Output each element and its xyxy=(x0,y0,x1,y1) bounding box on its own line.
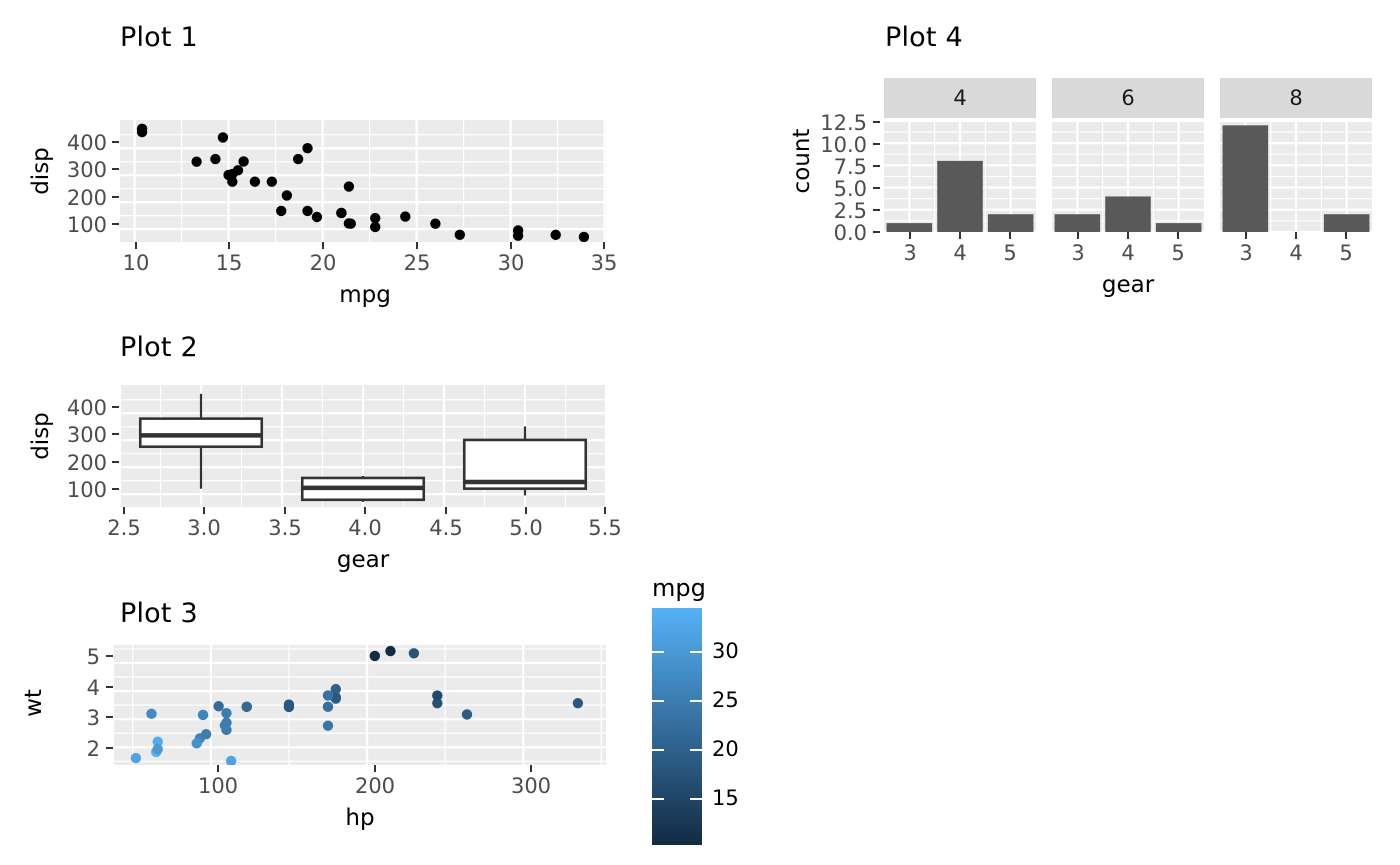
plot4-xtick-mark xyxy=(1245,232,1247,239)
plot4-xtick-mark xyxy=(1009,232,1011,239)
plot2-xtick-4.0: 4.0 xyxy=(335,516,395,540)
plot2-y-axis-title: disp xyxy=(28,391,54,481)
plot1-x-axis-title: mpg xyxy=(300,282,430,308)
plot4-xtick-mark xyxy=(1345,232,1347,239)
plot4-ytick-10.0: 10.0 xyxy=(795,133,867,157)
facet-strip-6: 6 xyxy=(1052,78,1204,118)
plot4-ytick-mark xyxy=(873,231,880,233)
plot4-ytick-mark xyxy=(873,143,880,145)
plot1-xtick-mark xyxy=(603,242,605,249)
legend-title: mpg xyxy=(652,574,706,602)
plot1-xtick-25: 25 xyxy=(387,251,447,275)
plot3-ytick-3: 3 xyxy=(62,706,100,730)
plot3-x-axis-title: hp xyxy=(300,805,420,831)
plot4-ytick-0.0: 0.0 xyxy=(795,221,867,245)
plot2-ytick-mark xyxy=(112,488,119,490)
plot4-f0-xtick-5: 5 xyxy=(980,241,1040,265)
plot3-ytick-mark xyxy=(106,747,113,749)
facet-strip-8: 8 xyxy=(1220,78,1372,118)
plot4-xtick-mark xyxy=(959,232,961,239)
plot3-title: Plot 3 xyxy=(120,598,198,629)
plot4-xtick-mark xyxy=(1177,232,1179,239)
plot1-xtick-10: 10 xyxy=(106,251,166,275)
plot4-xtick-mark xyxy=(909,232,911,239)
plot1-ytick-400: 400 xyxy=(55,131,107,155)
plot3-ytick-mark xyxy=(106,686,113,688)
plot2-ytick-mark xyxy=(112,433,119,435)
plot1-xtick-mark xyxy=(228,242,230,249)
plot1-xtick-20: 20 xyxy=(293,251,353,275)
plot2-xtick-5.5: 5.5 xyxy=(575,516,635,540)
plot2-xtick-mark xyxy=(123,507,125,514)
plot2-ytick-mark xyxy=(112,461,119,463)
plot1-xtick-mark xyxy=(322,242,324,249)
plot2-xtick-mark xyxy=(445,507,447,514)
plot2-xtick-mark xyxy=(284,507,286,514)
plot2-ytick-300: 300 xyxy=(55,423,107,447)
legend-tick-mark xyxy=(652,749,664,751)
plot4-xtick-mark xyxy=(1127,232,1129,239)
plot2-xtick-3.0: 3.0 xyxy=(174,516,234,540)
plot3-y-axis-title: wt xyxy=(21,663,47,743)
plot1-ytick-mark xyxy=(112,196,119,198)
plot2-xtick-2.5: 2.5 xyxy=(94,516,154,540)
plot1-ytick-100: 100 xyxy=(55,213,107,237)
plot2-xtick-mark xyxy=(203,507,205,514)
legend-tick-mark xyxy=(690,651,702,653)
plot2-xtick-4.5: 4.5 xyxy=(416,516,476,540)
plot1-xtick-mark xyxy=(510,242,512,249)
plot1-panel xyxy=(120,120,606,242)
plot2-ytick-mark xyxy=(112,406,119,408)
plot4-ytick-12.5: 12.5 xyxy=(795,111,867,135)
legend-label-20: 20 xyxy=(712,737,739,761)
plot2-xtick-mark xyxy=(604,507,606,514)
plot4-xtick-mark xyxy=(1295,232,1297,239)
plot3-xtick-200: 200 xyxy=(340,774,410,798)
plot1-xtick-mark xyxy=(416,242,418,249)
plot3-xtick-mark xyxy=(217,765,219,772)
plot4-ytick-mark xyxy=(873,187,880,189)
plot4-panel-cyl4 xyxy=(884,120,1036,232)
facet-strip-label: 6 xyxy=(1121,86,1134,110)
legend-tick-mark xyxy=(652,651,664,653)
plot1-y-axis-title: disp xyxy=(28,126,54,216)
plot3-ytick-5: 5 xyxy=(62,645,100,669)
plot1-ytick-mark xyxy=(112,141,119,143)
plot2-x-axis-title: gear xyxy=(298,547,428,573)
plot2-xtick-mark xyxy=(525,507,527,514)
plot3-ytick-mark xyxy=(106,716,113,718)
plot3-ytick-4: 4 xyxy=(62,676,100,700)
plot2-ytick-200: 200 xyxy=(55,451,107,475)
plot1-title: Plot 1 xyxy=(120,22,198,53)
plot2-xtick-mark xyxy=(364,507,366,514)
plot2-xtick-5.0: 5.0 xyxy=(496,516,556,540)
legend-tick-mark xyxy=(652,798,664,800)
plot3-xtick-mark xyxy=(530,765,532,772)
plot3-ytick-mark xyxy=(106,655,113,657)
plot2-title: Plot 2 xyxy=(120,332,198,363)
plot4-f1-xtick-5: 5 xyxy=(1148,241,1208,265)
legend-label-30: 30 xyxy=(712,639,739,663)
plot1-ytick-200: 200 xyxy=(55,186,107,210)
legend-label-15: 15 xyxy=(712,786,739,810)
plot2-panel xyxy=(120,385,606,507)
plot1-xtick-35: 35 xyxy=(574,251,634,275)
plot4-panel-cyl6 xyxy=(1052,120,1204,232)
plot3-xtick-100: 100 xyxy=(183,774,253,798)
legend-tick-mark xyxy=(690,798,702,800)
plot1-xtick-mark xyxy=(135,242,137,249)
plot4-ytick-mark xyxy=(873,121,880,123)
legend-tick-mark xyxy=(690,749,702,751)
legend-gradient-bar xyxy=(652,608,702,845)
plot4-panel-cyl8 xyxy=(1220,120,1372,232)
facet-strip-label: 4 xyxy=(953,86,966,110)
plot4-xtick-mark xyxy=(1077,232,1079,239)
plot3-xtick-300: 300 xyxy=(496,774,566,798)
legend-tick-mark xyxy=(652,700,664,702)
plot3-panel xyxy=(114,645,606,765)
plot4-x-axis-title: gear xyxy=(1063,272,1193,298)
plot4-f2-xtick-5: 5 xyxy=(1316,241,1376,265)
plot4-title: Plot 4 xyxy=(885,22,963,53)
plot1-ytick-mark xyxy=(112,223,119,225)
plot4-ytick-5.0: 5.0 xyxy=(795,177,867,201)
legend-label-25: 25 xyxy=(712,688,739,712)
plot3-xtick-mark xyxy=(374,765,376,772)
plot3-ytick-2: 2 xyxy=(62,737,100,761)
plot1-xtick-30: 30 xyxy=(481,251,541,275)
legend-tick-mark xyxy=(690,700,702,702)
plot4-ytick-mark xyxy=(873,209,880,211)
plot4-ytick-7.5: 7.5 xyxy=(795,155,867,179)
plot4-ytick-mark xyxy=(873,165,880,167)
plot4-ytick-2.5: 2.5 xyxy=(795,199,867,223)
plot2-ytick-100: 100 xyxy=(55,478,107,502)
plot2-ytick-400: 400 xyxy=(55,396,107,420)
facet-strip-4: 4 xyxy=(884,78,1036,118)
plot1-xtick-15: 15 xyxy=(199,251,259,275)
plot2-xtick-3.5: 3.5 xyxy=(255,516,315,540)
facet-strip-label: 8 xyxy=(1289,86,1302,110)
plot1-ytick-mark xyxy=(112,168,119,170)
plot1-ytick-300: 300 xyxy=(55,158,107,182)
